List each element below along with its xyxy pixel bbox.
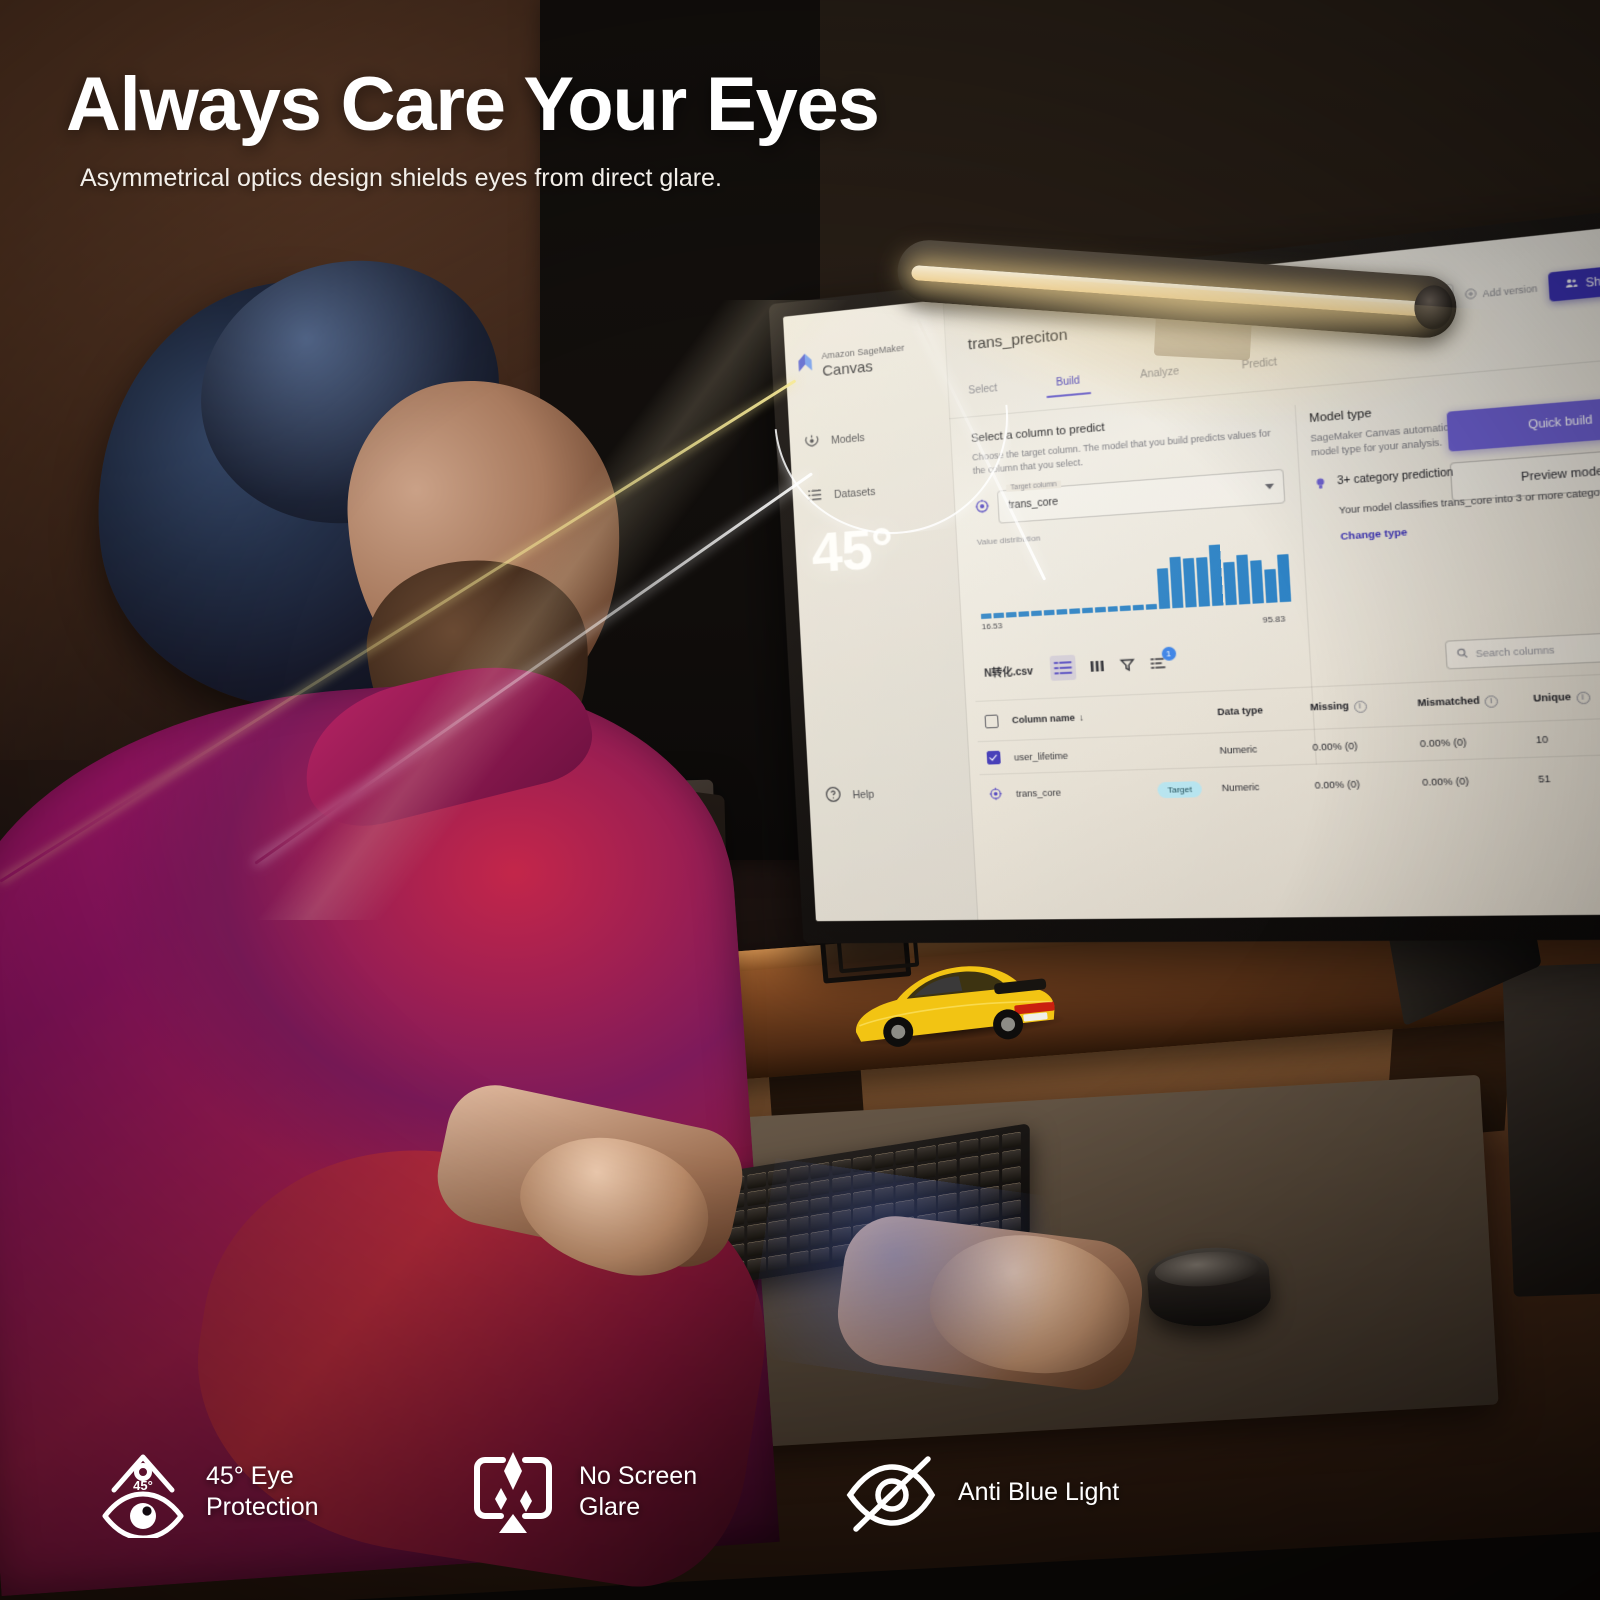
keyboard-key <box>896 1199 915 1216</box>
keyboard-key <box>960 1172 979 1189</box>
col-header-data-type[interactable]: Data type <box>1217 703 1310 717</box>
keyboard-key <box>1002 1132 1021 1149</box>
keyboard-key <box>832 1209 851 1226</box>
keyboard-key <box>917 1196 936 1213</box>
keyboard-key <box>747 1206 766 1223</box>
row-column-name: trans_core <box>1016 785 1158 799</box>
target-icon <box>974 499 990 518</box>
keyboard-key <box>853 1189 872 1206</box>
detail-list-badge: 1 <box>1161 646 1176 661</box>
histogram-bar <box>1209 544 1224 605</box>
keyboard-key <box>789 1216 808 1233</box>
keyboard-key <box>875 1152 894 1169</box>
brand-text: Amazon SageMaker Canvas <box>821 343 906 380</box>
histogram-bar <box>1146 604 1157 609</box>
histogram-bar <box>1223 562 1237 605</box>
keyboard-key <box>960 1206 979 1223</box>
keyboard-key <box>917 1179 936 1196</box>
keyboard-key <box>832 1176 851 1193</box>
row-missing: 0.00% (0) <box>1314 777 1422 791</box>
sidebar-item-label: Datasets <box>834 486 876 501</box>
feature-label: No Screen Glare <box>579 1461 754 1523</box>
keyboard-key <box>875 1186 894 1203</box>
keyboard-key <box>853 1155 872 1172</box>
sidebar-item-models[interactable]: Models <box>803 428 865 453</box>
dataset-view-tools: 1 <box>1049 650 1167 681</box>
page-title-headline: Always Care Your Eyes <box>66 66 1266 144</box>
keyboard-key <box>747 1189 766 1206</box>
keyboard-key <box>938 1193 957 1210</box>
aws-logo-icon <box>795 352 816 379</box>
keyboard-key <box>917 1162 936 1179</box>
preview-model-label: Preview model <box>1521 464 1600 484</box>
sidebar-item-label: Models <box>831 432 865 447</box>
sidebar-item-help[interactable]: Help <box>824 785 874 807</box>
anti-blue-light-icon <box>840 1449 938 1535</box>
keyboard-key <box>747 1223 766 1240</box>
histogram-bar <box>1018 612 1029 617</box>
page-title: trans_preciton <box>967 326 1068 354</box>
brand: Amazon SageMaker Canvas <box>795 343 906 383</box>
feature-label: Anti Blue Light <box>958 1477 1119 1508</box>
row-unique: 51 <box>1538 771 1600 785</box>
row-unique: 10 <box>1535 731 1600 745</box>
tab-analyze[interactable]: Analyze <box>1140 366 1180 390</box>
sidebar-item-label: Help <box>852 789 874 802</box>
histogram-bar <box>1133 605 1144 610</box>
histogram-min-label: 16.53 <box>981 620 1002 630</box>
keyboard-key <box>938 1159 957 1176</box>
keyboard-key <box>789 1199 808 1216</box>
detail-list-icon[interactable]: 1 <box>1148 654 1167 672</box>
keyboard-key <box>768 1220 787 1237</box>
keyboard-key <box>789 1165 808 1182</box>
dataset-file-name: N转化.csv <box>984 661 1034 679</box>
columns-view-icon[interactable] <box>1088 657 1106 675</box>
keyboard-key <box>896 1182 915 1199</box>
keyboard-key <box>938 1142 957 1159</box>
select-column-panel: Select a column to predict Choose the ta… <box>971 406 1291 618</box>
keyboard-key <box>768 1169 787 1186</box>
col-header-mismatched[interactable]: Mismatchedi <box>1417 693 1534 710</box>
list-view-icon[interactable] <box>1049 655 1076 681</box>
keyboard-key <box>768 1203 787 1220</box>
feature-eye-protection: 45° 45° Eye Protection <box>100 1446 381 1538</box>
keyboard-key <box>938 1176 957 1193</box>
keyboard-key <box>747 1240 766 1257</box>
lightbulb-icon <box>1313 476 1329 494</box>
info-icon[interactable]: i <box>1484 695 1498 708</box>
histogram-bar <box>1183 558 1197 607</box>
keyboard-key <box>981 1169 1000 1186</box>
histogram-bar <box>1056 609 1067 614</box>
histogram-bar <box>993 613 1004 618</box>
keyboard-key <box>811 1213 830 1230</box>
add-version-label: Add version <box>1482 283 1537 300</box>
keyboard-key <box>811 1196 830 1213</box>
keyboard-key <box>853 1206 872 1223</box>
histogram-bar <box>1250 560 1264 603</box>
keyboard-key <box>981 1186 1000 1203</box>
value-distribution-chart: 16.53 95.83 <box>978 534 1292 618</box>
headline-subtitle: Asymmetrical optics design shields eyes … <box>80 164 1266 193</box>
histogram-bar <box>1006 612 1017 617</box>
headline-block: Always Care Your Eyes Asymmetrical optic… <box>66 66 1266 193</box>
keyboard-key <box>789 1250 808 1267</box>
change-type-link[interactable]: Change type <box>1340 512 1600 543</box>
row-target-icon[interactable] <box>989 786 1017 802</box>
keyboard-key <box>960 1189 979 1206</box>
target-column-value: trans_core <box>1008 496 1058 511</box>
keyboard-key <box>811 1247 830 1264</box>
datasets-icon <box>806 486 824 507</box>
keyboard-key <box>960 1138 979 1155</box>
row-checkbox[interactable] <box>987 750 1015 764</box>
prediction-type-label: 3+ category prediction <box>1337 466 1454 487</box>
chevron-down-icon <box>1265 484 1274 490</box>
keyboard-key <box>811 1230 830 1247</box>
keyboard-key <box>896 1165 915 1182</box>
bookshelf-speaker-right <box>1502 963 1600 1297</box>
feature-list: 45° 45° Eye Protection No Scre <box>100 1446 1119 1538</box>
keyboard-key <box>1002 1166 1021 1183</box>
histogram-max-label: 95.83 <box>1262 613 1285 624</box>
keyboard-key <box>768 1253 787 1270</box>
tab-build[interactable]: Build <box>1056 375 1081 397</box>
workflow-tabs: Select Build Analyze Predict <box>968 357 1278 405</box>
histogram-bar <box>1082 608 1093 613</box>
sort-desc-icon: ↓ <box>1079 712 1084 723</box>
row-mismatched: 0.00% (0) <box>1422 773 1539 787</box>
row-mismatched: 0.00% (0) <box>1420 734 1537 749</box>
row-tag <box>1155 750 1219 752</box>
keyboard-key <box>832 1193 851 1210</box>
product-marketing-image: Amazon SageMaker Canvas Models <box>0 0 1600 1600</box>
tab-select[interactable]: Select <box>968 383 998 405</box>
row-data-type: Numeric <box>1221 780 1315 793</box>
keyboard-key <box>917 1145 936 1162</box>
keyboard-key <box>768 1237 787 1254</box>
feature-no-glare: No Screen Glare <box>467 1448 754 1536</box>
row-tag: Target <box>1157 780 1222 798</box>
build-actions: Quick build Preview model <box>1447 393 1600 502</box>
target-badge: Target <box>1157 781 1202 798</box>
select-all-checkbox[interactable] <box>984 713 1012 728</box>
keyboard-key <box>747 1172 766 1189</box>
histogram-bar <box>1277 554 1291 602</box>
histogram-bar <box>1043 610 1054 615</box>
keyboard-key <box>832 1159 851 1176</box>
svg-text:45°: 45° <box>133 1478 153 1493</box>
col-header-unique[interactable]: Uniquei <box>1533 690 1600 706</box>
plus-circle-icon <box>1464 288 1477 303</box>
keyboard-key <box>1002 1183 1021 1200</box>
histogram-bar <box>1094 607 1105 612</box>
keyboard-key <box>981 1135 1000 1152</box>
row-column-name: user_lifetime <box>1014 747 1156 762</box>
keyboard-key <box>960 1155 979 1172</box>
keyboard-key <box>789 1233 808 1250</box>
keyboard-key <box>1002 1149 1021 1166</box>
keyboard-key <box>811 1179 830 1196</box>
eye-45-degree-icon: 45° <box>100 1446 186 1538</box>
sidebar-item-datasets[interactable]: Datasets <box>806 482 876 507</box>
filter-icon[interactable] <box>1118 656 1136 674</box>
keyboard-key <box>1002 1199 1021 1216</box>
histogram-bar <box>981 614 992 619</box>
search-placeholder: Search columns <box>1475 644 1554 659</box>
target-column-select[interactable]: Target column trans_core <box>997 468 1286 523</box>
keyboard-key <box>875 1169 894 1186</box>
histogram-bar <box>1170 557 1184 608</box>
columns-table: Column name↓ Data type Missingi Mismatch… <box>975 670 1600 815</box>
col-header-column-name[interactable]: Column name↓ <box>1012 709 1154 725</box>
keyboard-key <box>853 1172 872 1189</box>
row-missing: 0.00% (0) <box>1312 738 1420 753</box>
help-icon <box>824 786 842 807</box>
keyboard-key <box>981 1152 1000 1169</box>
row-data-type: Numeric <box>1219 741 1313 755</box>
search-icon <box>1456 647 1469 661</box>
histogram-bar <box>1069 609 1080 614</box>
add-version-button[interactable]: Add version <box>1464 282 1538 303</box>
target-column-field-row: Target column trans_core <box>974 468 1285 525</box>
keyboard-key <box>811 1162 830 1179</box>
people-icon <box>1564 276 1579 293</box>
models-icon <box>803 432 821 453</box>
col-header-missing[interactable]: Missingi <box>1310 698 1418 714</box>
histogram-bar <box>1264 568 1277 602</box>
no-screen-glare-icon <box>467 1448 559 1536</box>
dataset-toolbar: N转化.csv <box>983 650 1167 684</box>
feature-anti-blue-light: Anti Blue Light <box>840 1449 1119 1535</box>
histogram-bar <box>1031 611 1042 616</box>
keyboard-key <box>789 1182 808 1199</box>
keyboard-key <box>768 1186 787 1203</box>
info-icon[interactable]: i <box>1576 691 1590 704</box>
keyboard-key <box>896 1148 915 1165</box>
histogram-bar <box>1120 606 1131 611</box>
keyboard-key <box>981 1203 1000 1220</box>
histogram-bar <box>1157 568 1170 608</box>
angle-overlay-label: 45° <box>810 519 894 581</box>
histogram-bar <box>1196 557 1210 606</box>
share-button[interactable]: Share <box>1548 264 1600 302</box>
target-column-label: Target column <box>1006 480 1061 491</box>
info-icon[interactable]: i <box>1353 700 1367 713</box>
histogram-bar <box>1107 606 1118 611</box>
feature-label: 45° Eye Protection <box>206 1461 381 1523</box>
share-label: Share <box>1585 274 1600 290</box>
histogram-bar <box>1236 555 1250 604</box>
keyboard-key <box>832 1226 851 1243</box>
quick-build-label: Quick build <box>1528 413 1593 432</box>
search-columns-input[interactable]: Search columns <box>1445 631 1600 670</box>
histogram-bars <box>978 534 1292 618</box>
col-header-tag <box>1153 712 1217 715</box>
keyboard-key <box>747 1257 766 1274</box>
